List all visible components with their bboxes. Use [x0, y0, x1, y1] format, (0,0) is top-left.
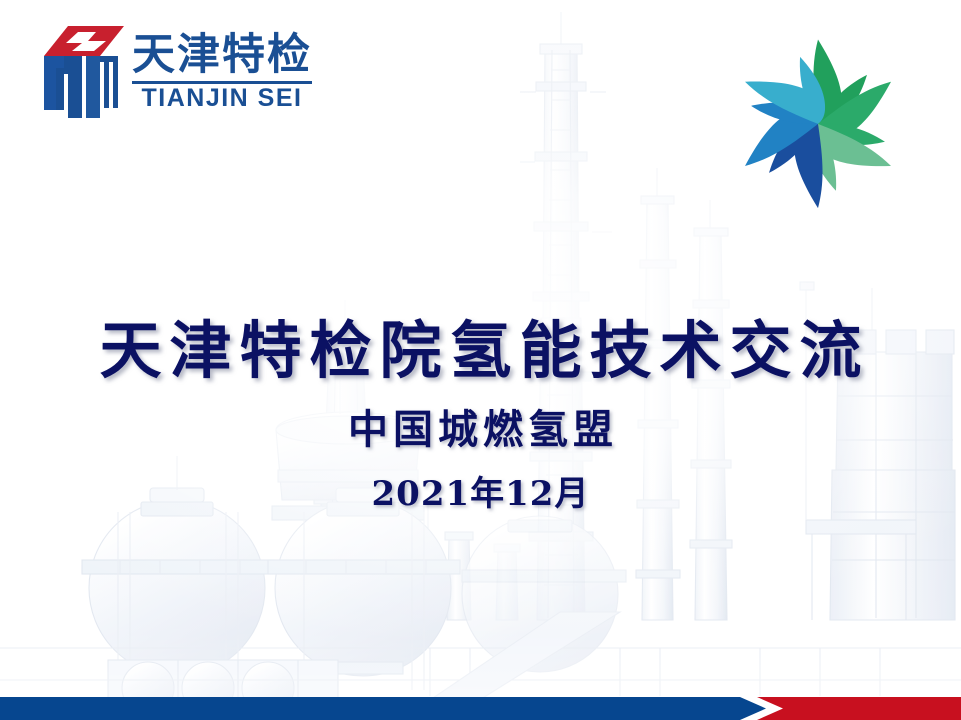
- slide-main-title: 天津特检院氢能技术交流: [0, 316, 961, 385]
- title-block: 天津特检院氢能技术交流 中国城燃氢盟 2021年12月: [0, 316, 961, 515]
- tianjin-sei-logo: 天津特检 TIANJIN SEI: [38, 22, 312, 122]
- hydrogen-alliance-emblem: [718, 18, 918, 214]
- logo-english-text: TIANJIN SEI: [132, 86, 312, 111]
- tianjin-sei-cube-icon: [38, 22, 124, 122]
- bottom-accent-bar: [0, 697, 961, 720]
- logo-chinese-text: 天津特检: [132, 33, 312, 77]
- slide-date: 2021年12月: [0, 475, 961, 514]
- tianjin-sei-wordmark: 天津特检 TIANJIN SEI: [132, 33, 312, 110]
- title-slide: 天津特检 TIANJIN SEI: [0, 0, 961, 720]
- bottom-bar-blue: [0, 697, 766, 720]
- slide-subtitle: 中国城燃氢盟: [0, 407, 961, 453]
- bottom-bar-red-chevron: [757, 697, 961, 720]
